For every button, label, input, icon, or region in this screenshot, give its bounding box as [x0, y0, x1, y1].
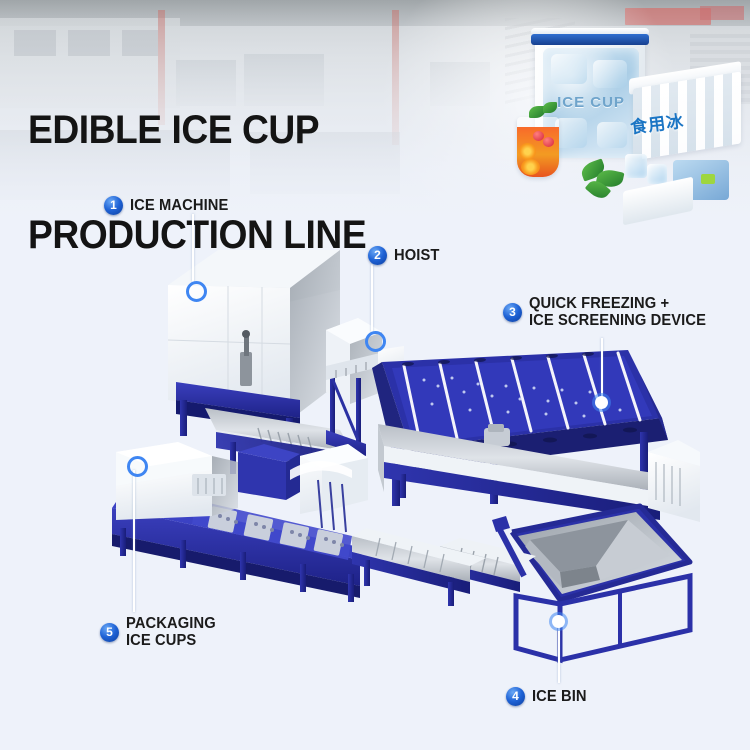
callout-marker-4[interactable] — [552, 615, 565, 628]
callout-marker-2[interactable] — [365, 331, 386, 352]
callout-label-line: HOIST — [394, 247, 439, 264]
callout-marker-1[interactable] — [186, 281, 207, 302]
callout-label-line: ICE BIN — [532, 688, 587, 705]
ice-shard — [551, 54, 587, 84]
callout-label-1: ICE MACHINE — [130, 197, 228, 214]
ice-bin-unit — [440, 506, 690, 660]
callout-leader-line-2 — [371, 264, 373, 332]
callout-1[interactable]: 1ICE MACHINE — [104, 196, 234, 215]
ice-cube — [647, 164, 667, 184]
poster-root: EDIBLE ICE CUP PRODUCTION LINE ICE CUP 食… — [0, 0, 750, 750]
callout-2[interactable]: 2HOIST — [368, 246, 442, 265]
callout-label-line: ICE SCREENING DEVICE — [529, 312, 706, 329]
hero-product-montage: ICE CUP 食用冰 — [505, 22, 750, 242]
callout-marker-5[interactable] — [127, 456, 148, 477]
callout-badge-2: 2 — [368, 246, 387, 265]
berry — [543, 137, 554, 147]
ice-shard — [593, 60, 627, 88]
callout-label-4: ICE BIN — [532, 688, 587, 705]
callout-leader-line-4 — [558, 625, 560, 683]
callout-leader-line-3 — [601, 338, 603, 398]
title-line-2: PRODUCTION LINE — [28, 218, 366, 253]
callout-marker-3[interactable] — [595, 396, 608, 409]
orange-slice — [519, 143, 536, 160]
callout-label-line: ICE CUPS — [126, 632, 216, 649]
callout-badge-1: 1 — [104, 196, 123, 215]
ice-tub-blue-rim — [531, 34, 649, 45]
callout-leader-line-1 — [192, 214, 194, 282]
callout-label-line: ICE MACHINE — [130, 197, 228, 214]
ice-shard — [597, 122, 627, 148]
callout-badge-4: 4 — [506, 687, 525, 706]
callout-label-2: HOIST — [394, 247, 439, 264]
ice-cup-block-label: ICE CUP — [545, 94, 637, 111]
ice-bag-label — [701, 174, 715, 184]
fruit-drink-cup — [517, 117, 559, 177]
callout-label-5: PACKAGINGICE CUPS — [126, 615, 216, 649]
callout-badge-3: 3 — [503, 303, 522, 322]
callout-badge-5: 5 — [100, 623, 119, 642]
callout-label-3: QUICK FREEZING +ICE SCREENING DEVICE — [529, 295, 706, 329]
ice-shard — [555, 118, 587, 148]
orange-slice — [521, 159, 540, 175]
callout-label-line: PACKAGING — [126, 615, 216, 632]
ice-cube — [625, 154, 647, 178]
quick-freezing-screening-unit — [372, 350, 700, 532]
callout-4[interactable]: 4ICE BIN — [506, 687, 590, 706]
callout-label-line: QUICK FREEZING + — [529, 295, 706, 312]
callout-3[interactable]: 3QUICK FREEZING +ICE SCREENING DEVICE — [503, 295, 715, 329]
callout-leader-line-5 — [133, 470, 135, 612]
callout-5[interactable]: 5PACKAGINGICE CUPS — [100, 615, 220, 649]
white-tray — [623, 177, 693, 226]
title-line-1: EDIBLE ICE CUP — [28, 113, 366, 148]
